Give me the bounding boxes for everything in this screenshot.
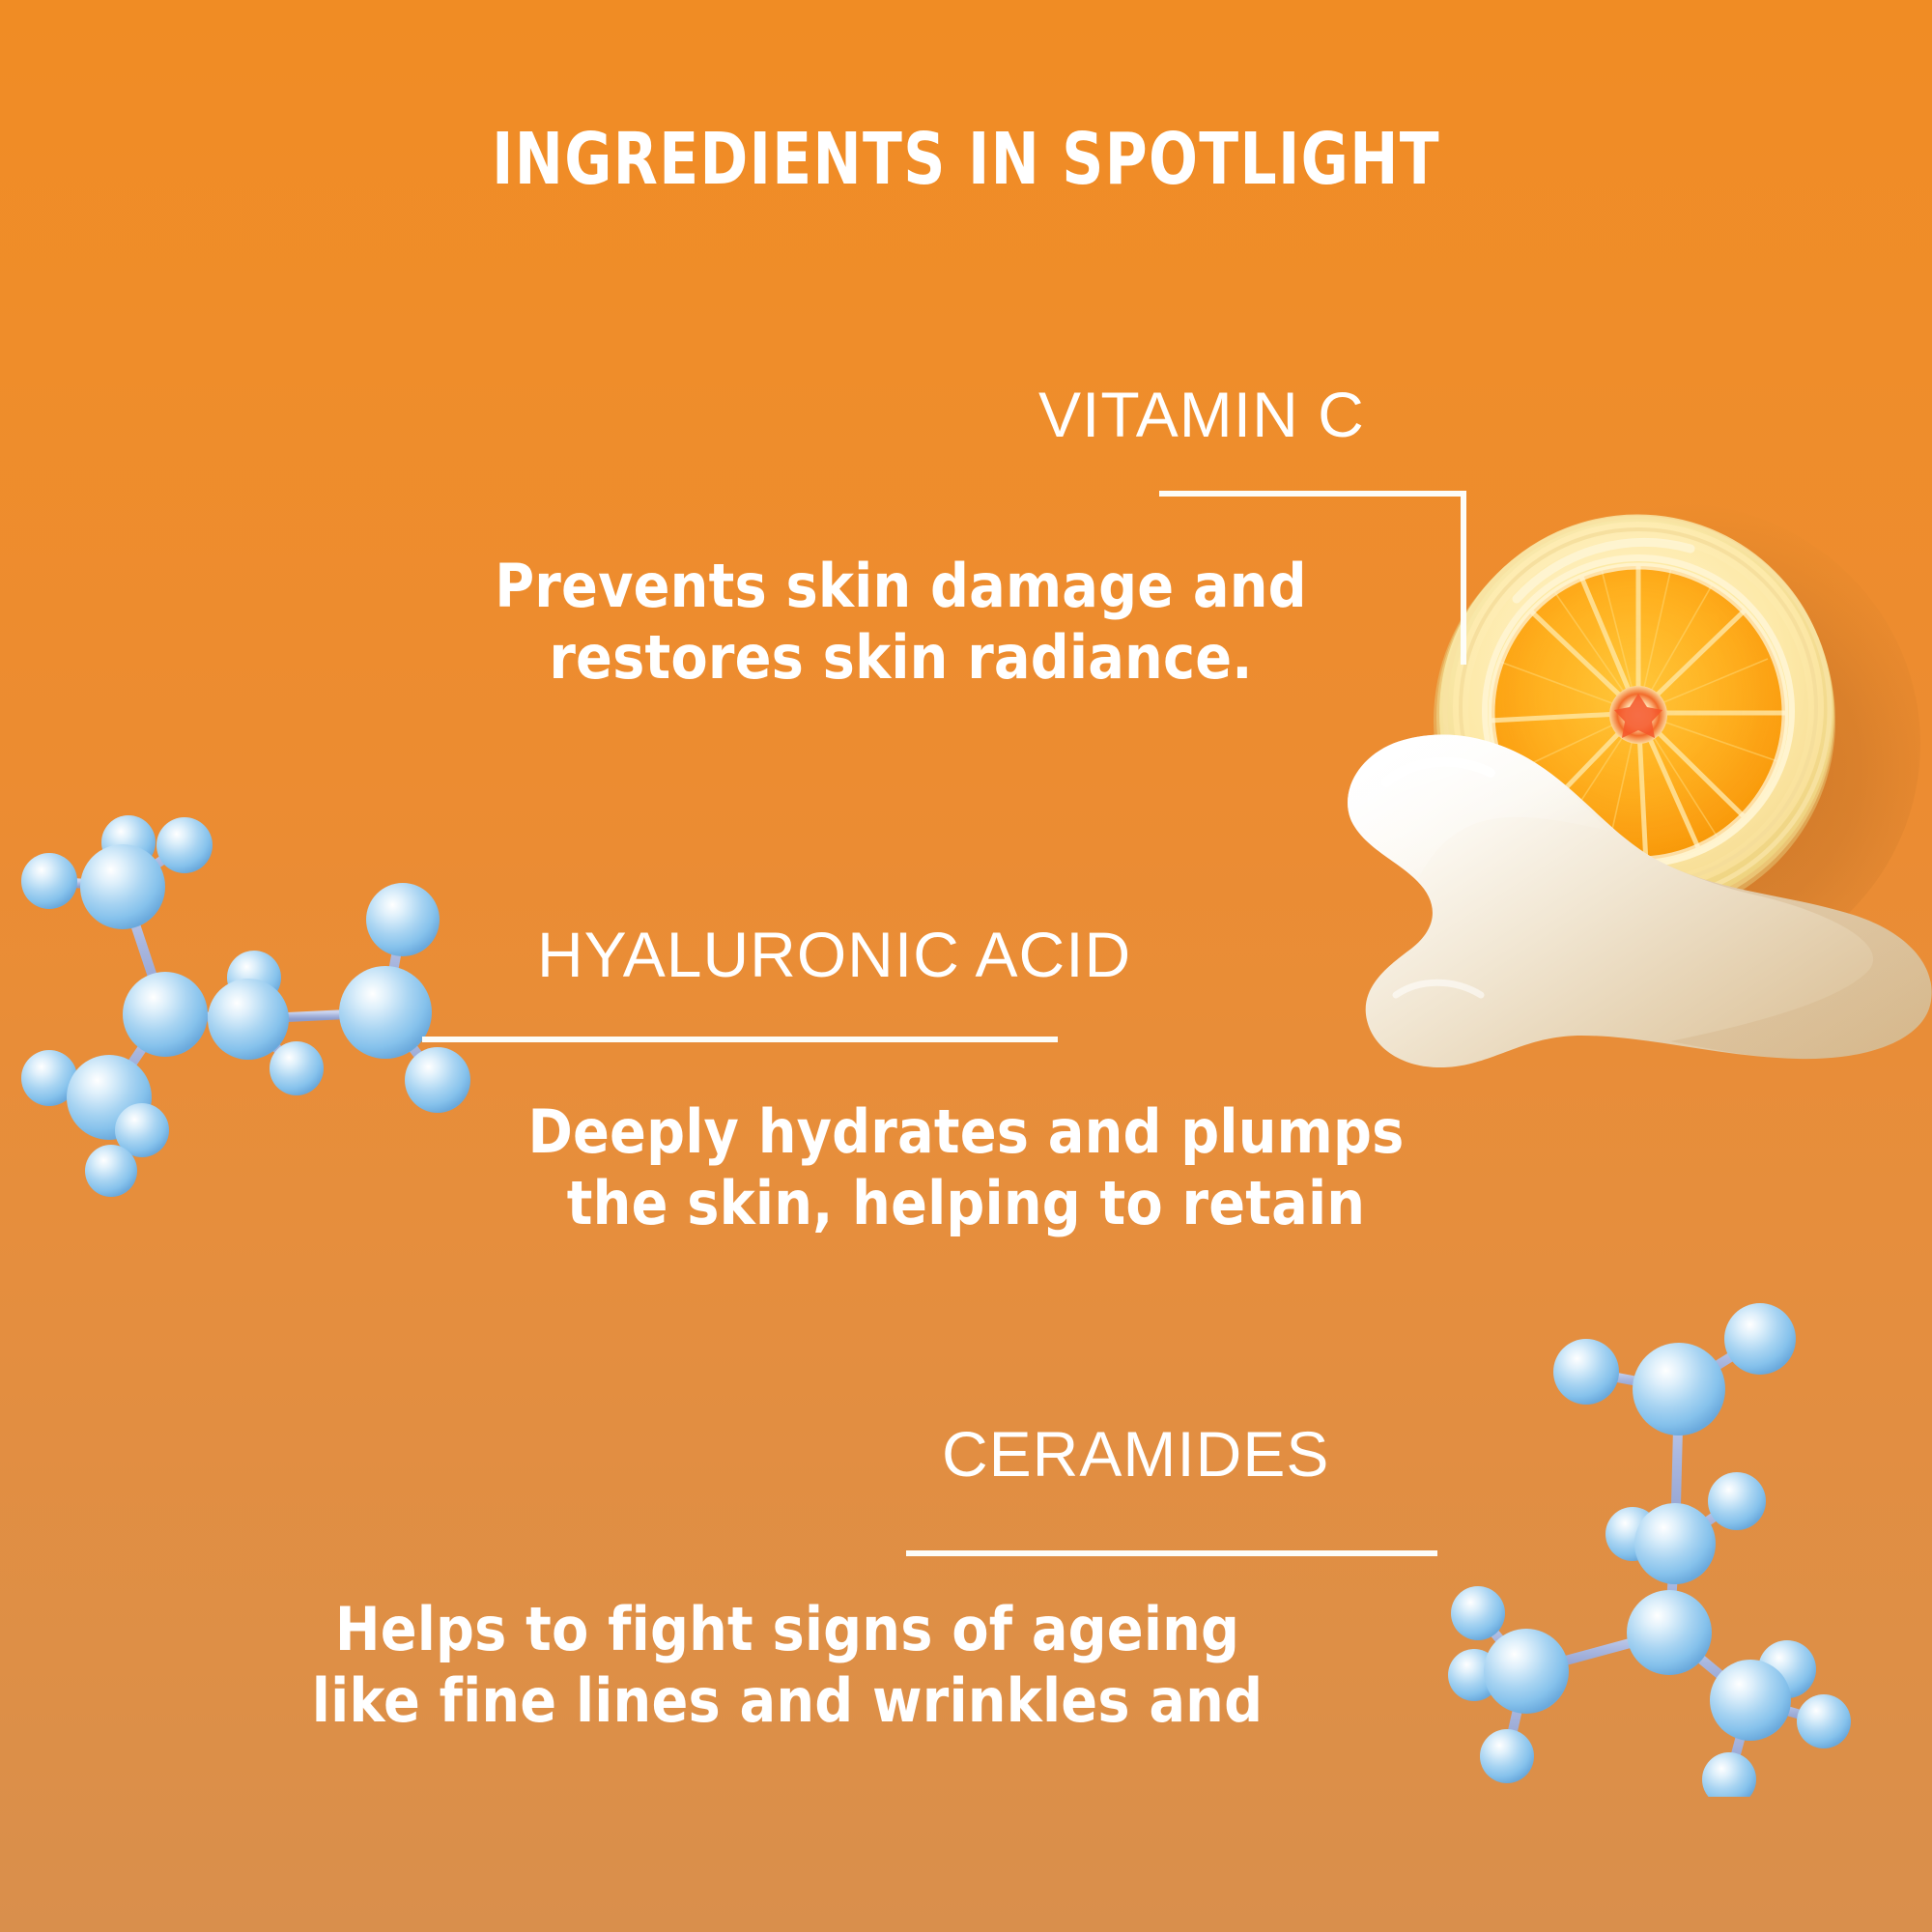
description-line: the skin, helping to retain (386, 1168, 1546, 1239)
description-line: Helps to fight signs of ageing (232, 1594, 1343, 1665)
cream-swatch-icon (1328, 676, 1932, 1121)
orange-slice-icon (1372, 454, 1932, 1014)
connector-line-ceramides (906, 1550, 1437, 1556)
connector-line-hyaluronic-acid (422, 1037, 1058, 1042)
description-line: Prevents skin damage and (396, 551, 1406, 622)
connector-line-vitamin-c-horizontal (1159, 491, 1466, 497)
ingredients-spotlight-poster: INGREDIENTS IN SPOTLIGHT (0, 0, 1932, 1932)
ingredient-description-ceramides: Helps to fight signs of ageing like fine… (232, 1594, 1343, 1738)
ingredient-description-hyaluronic-acid: Deeply hydrates and plumps the skin, hel… (386, 1096, 1546, 1240)
ingredient-description-vitamin-c: Prevents skin damage and restores skin r… (396, 551, 1406, 695)
ingredient-heading-vitamin-c: VITAMIN C (1038, 383, 1365, 446)
description-line: like fine lines and wrinkles and (232, 1665, 1343, 1737)
molecule-icon (1439, 1285, 1932, 1797)
ingredient-heading-ceramides: CERAMIDES (942, 1422, 1329, 1486)
description-line: restores skin radiance. (396, 622, 1406, 694)
connector-line-vitamin-c-vertical (1461, 491, 1466, 665)
description-line: Deeply hydrates and plumps (386, 1096, 1546, 1168)
ingredient-heading-hyaluronic-acid: HYALURONIC ACID (537, 923, 1131, 986)
page-title: INGREDIENTS IN SPOTLIGHT (97, 124, 1835, 195)
